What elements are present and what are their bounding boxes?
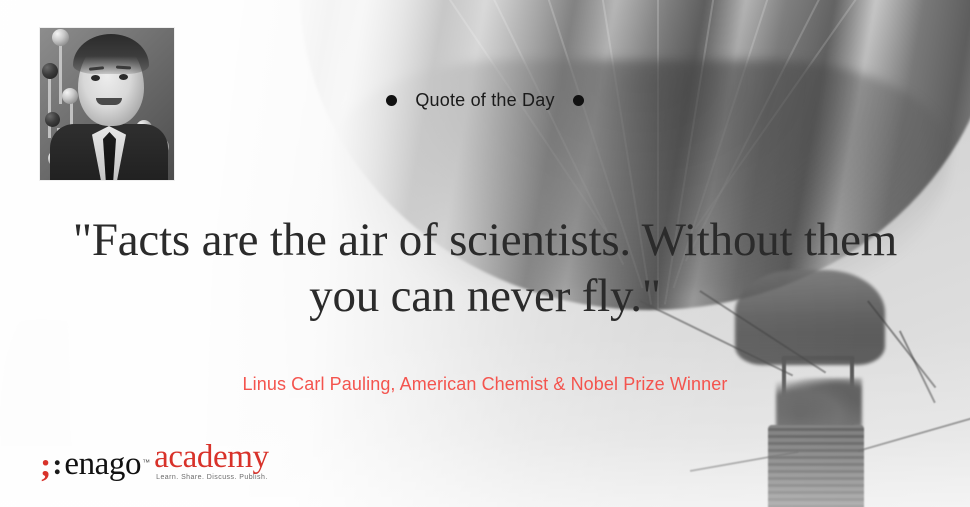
- enago-academy-logo[interactable]: ; : enago ™ academy Learn. Share. Discus…: [40, 441, 269, 481]
- portrait-eye: [91, 75, 100, 81]
- logo-semicolon-mark: ;: [40, 449, 51, 483]
- logo-wordmark-enago: enago: [64, 447, 141, 481]
- molecule-atom: [52, 29, 69, 46]
- quote-attribution: Linus Carl Pauling, American Chemist & N…: [60, 374, 910, 395]
- quote-of-the-day-header: Quote of the Day: [0, 90, 970, 111]
- logo-colon-mark: :: [52, 448, 62, 482]
- logo-wordmark-academy: academy: [154, 441, 268, 473]
- quote-text: "Facts are the air of scientists. Withou…: [60, 212, 910, 324]
- molecule-atom: [45, 112, 60, 127]
- logo-academy-block: academy Learn. Share. Discuss. Publish.: [154, 441, 268, 481]
- bullet-dot-icon-left: [386, 95, 397, 106]
- logo-trademark-icon: ™: [142, 458, 150, 467]
- bullet-dot-icon-right: [573, 95, 584, 106]
- molecule-atom: [42, 63, 58, 79]
- quote-card-canvas: Quote of the Day "Facts are the air of s…: [0, 0, 970, 507]
- portrait-eye: [119, 74, 128, 80]
- header-label: Quote of the Day: [415, 90, 554, 111]
- logo-tagline: Learn. Share. Discuss. Publish.: [156, 474, 268, 481]
